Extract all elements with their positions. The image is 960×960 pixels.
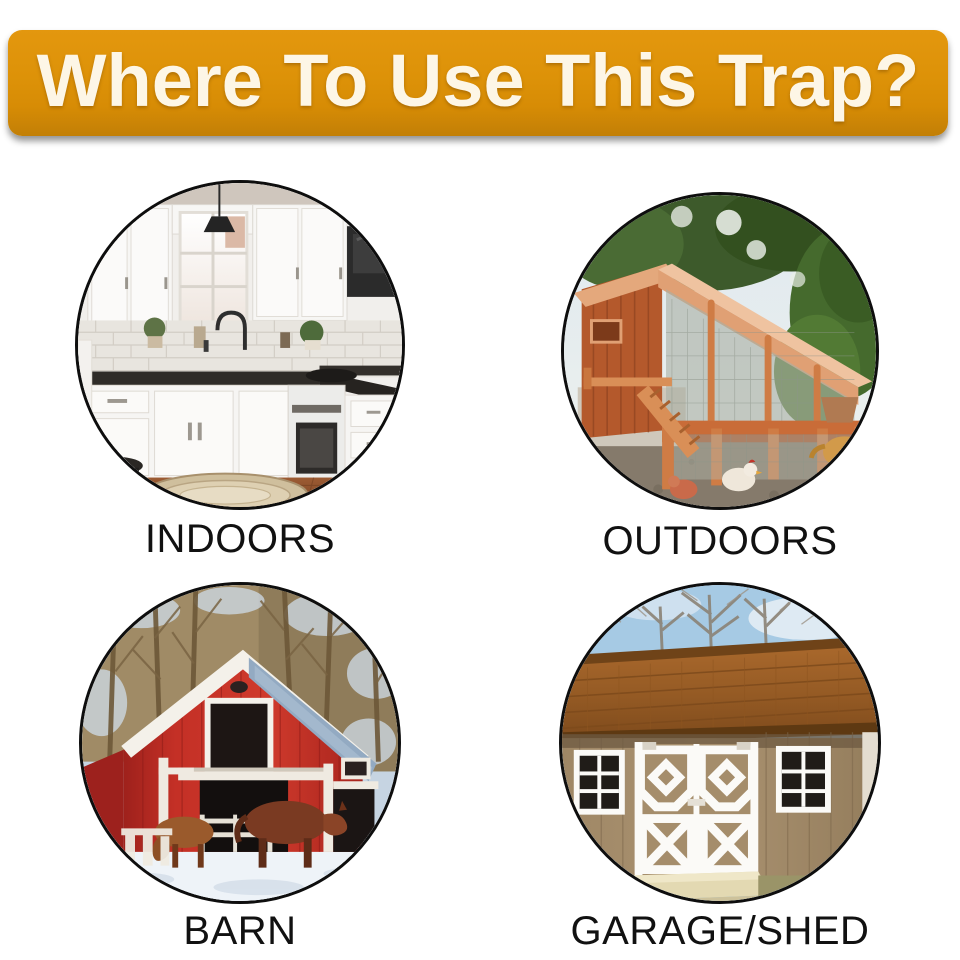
- red-barn-illustration: [82, 585, 398, 901]
- location-card-indoors[interactable]: INDOORS: [0, 180, 480, 560]
- shed-window-left: [574, 750, 625, 815]
- location-card-garage-shed[interactable]: GARAGE/SHED: [480, 582, 960, 952]
- header-banner: Where To Use This Trap?: [8, 30, 948, 136]
- label-outdoors: OUTDOORS: [602, 520, 837, 562]
- outdoors-photo-circle: [561, 192, 879, 510]
- chicken-coop-illustration: [564, 195, 876, 507]
- location-card-barn[interactable]: BARN: [0, 582, 480, 952]
- location-card-outdoors[interactable]: OUTDOORS: [480, 192, 960, 562]
- garage-shed-photo-circle: [559, 582, 881, 904]
- kitchen-illustration: [78, 183, 402, 507]
- label-indoors: INDOORS: [145, 518, 335, 560]
- label-barn: BARN: [183, 910, 296, 952]
- shed-double-doors: [635, 742, 759, 877]
- garden-shed-illustration: [562, 585, 878, 901]
- label-garage-shed: GARAGE/SHED: [571, 910, 870, 952]
- shed-window-right: [776, 746, 831, 813]
- page-title: Where To Use This Trap?: [37, 44, 920, 118]
- barn-photo-circle: [79, 582, 401, 904]
- location-grid: INDOORS: [0, 150, 960, 960]
- indoors-photo-circle: [75, 180, 405, 510]
